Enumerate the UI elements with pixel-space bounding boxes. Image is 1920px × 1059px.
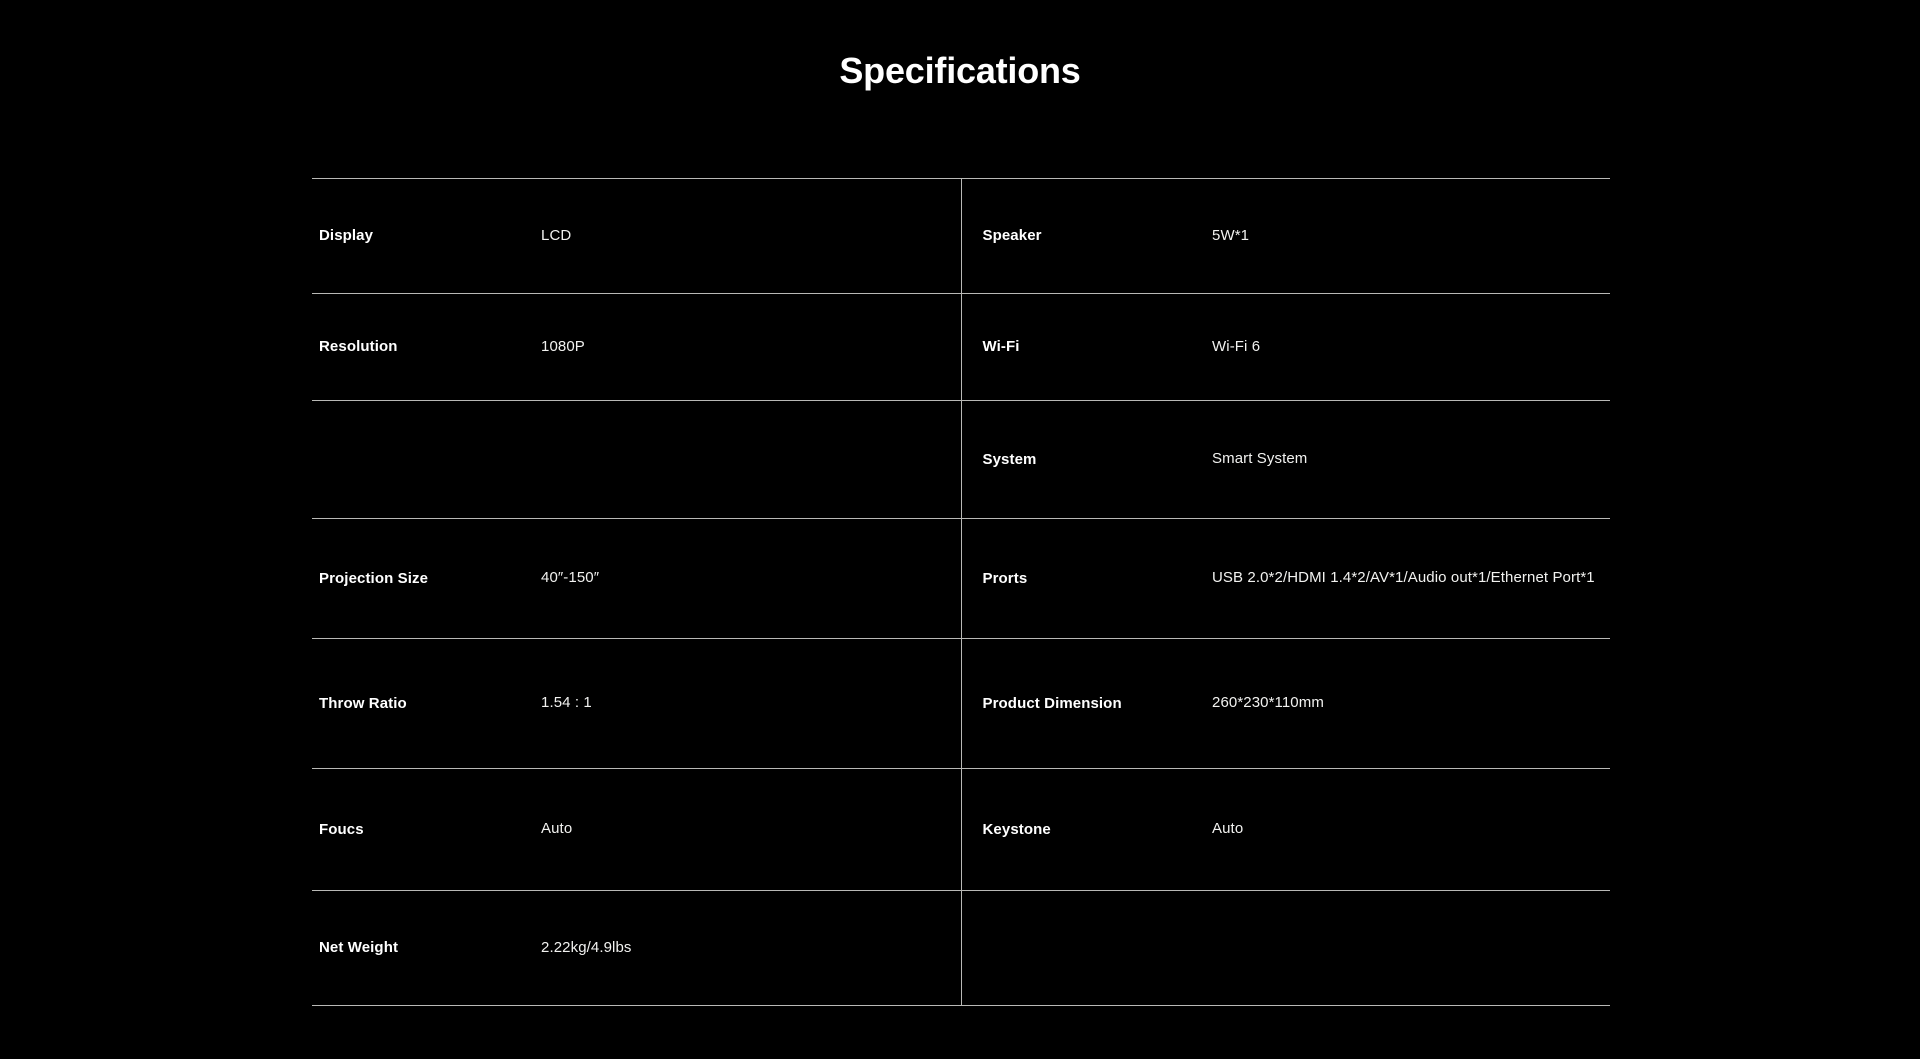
spec-label: Keystone [983,819,1133,841]
spec-label-cell: Resolution [312,294,534,401]
specifications-table: Display LCD Speaker 5W*1 Resolution 1080… [312,178,1610,1006]
spec-label: Prorts [983,568,1133,590]
spec-label-cell: Display [312,179,534,294]
spec-value-cell: LCD [534,179,961,294]
spec-label-cell: Wi-Fi [961,294,1191,401]
spec-label: Wi-Fi [983,336,1133,358]
spec-value-cell: Auto [534,769,961,891]
spec-value-cell: 40″-150″ [534,519,961,639]
spec-value: Wi-Fi 6 [1212,335,1610,359]
spec-value-cell-empty [534,401,961,519]
spec-value: 260*230*110mm [1212,691,1610,715]
spec-value: 1080P [541,335,961,359]
spec-label-cell: Throw Ratio [312,639,534,769]
spec-value-cell: USB 2.0*2/HDMI 1.4*2/AV*1/Audio out*1/Et… [1191,519,1610,639]
spec-value-cell-empty [1191,891,1610,1006]
spec-label: Display [319,225,469,247]
spec-label-cell: System [961,401,1191,519]
spec-label: Product Dimension [983,693,1133,715]
spec-value-cell: 1.54 : 1 [534,639,961,769]
spec-value-cell: Auto [1191,769,1610,891]
spec-label: Net Weight [319,937,469,959]
spec-label-cell: Prorts [961,519,1191,639]
specifications-page: Specifications Display LCD Speaker 5W*1 [0,0,1920,1059]
spec-value-cell: 5W*1 [1191,179,1610,294]
spec-label-cell-empty [312,401,534,519]
spec-label-cell: Product Dimension [961,639,1191,769]
spec-value: 1.54 : 1 [541,691,961,715]
spec-label-cell: Speaker [961,179,1191,294]
spec-label-cell: Net Weight [312,891,534,1006]
spec-label: Resolution [319,336,469,358]
spec-label: Foucs [319,819,469,841]
table-row: Projection Size 40″-150″ Prorts USB 2.0*… [312,519,1610,639]
spec-value: Smart System [1212,447,1610,471]
table-row: Foucs Auto Keystone Auto [312,769,1610,891]
table-row: Throw Ratio 1.54 : 1 Product Dimension 2… [312,639,1610,769]
spec-value-cell: 2.22kg/4.9lbs [534,891,961,1006]
spec-label-cell: Keystone [961,769,1191,891]
table-row: Display LCD Speaker 5W*1 [312,179,1610,294]
spec-value-cell: 260*230*110mm [1191,639,1610,769]
spec-label: Throw Ratio [319,693,469,715]
spec-value: USB 2.0*2/HDMI 1.4*2/AV*1/Audio out*1/Et… [1212,566,1610,590]
spec-value-cell: 1080P [534,294,961,401]
spec-label: System [983,449,1133,471]
spec-value: 2.22kg/4.9lbs [541,936,961,960]
table-row: Net Weight 2.22kg/4.9lbs [312,891,1610,1006]
table-row: Resolution 1080P Wi-Fi Wi-Fi 6 [312,294,1610,401]
spec-label: Speaker [983,225,1133,247]
page-title: Specifications [0,49,1920,92]
spec-value: Auto [1212,817,1610,841]
table-row: System Smart System [312,401,1610,519]
spec-value: Auto [541,817,961,841]
spec-value: 40″-150″ [541,566,961,590]
spec-value: 5W*1 [1212,224,1610,248]
spec-label-cell: Foucs [312,769,534,891]
spec-value-cell: Smart System [1191,401,1610,519]
spec-label-cell: Projection Size [312,519,534,639]
spec-value-cell: Wi-Fi 6 [1191,294,1610,401]
spec-label: Projection Size [319,568,469,590]
spec-value: LCD [541,224,961,248]
spec-label-cell-empty [961,891,1191,1006]
